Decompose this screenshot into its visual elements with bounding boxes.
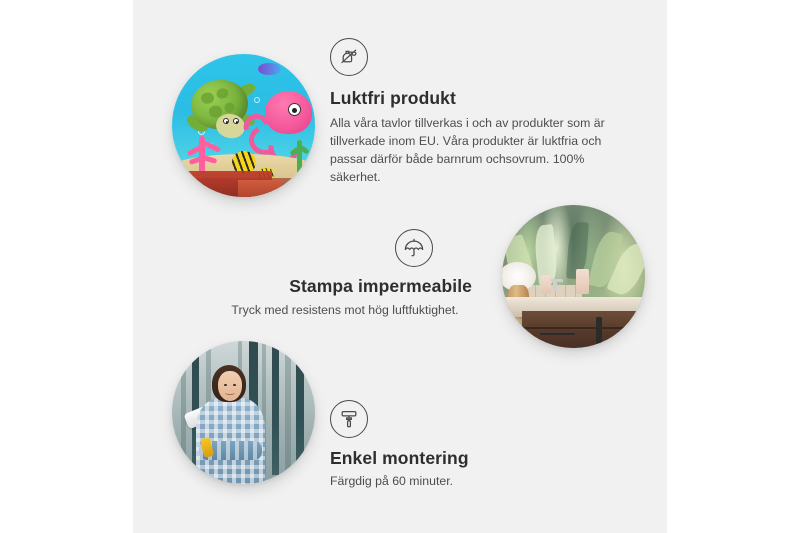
coral-pink bbox=[183, 131, 223, 174]
forest-tree bbox=[272, 341, 279, 475]
bathroom-faucet-spout bbox=[549, 279, 563, 282]
feature-title: Luktfri produkt bbox=[330, 88, 630, 109]
forest-tree bbox=[181, 341, 187, 475]
feature-odourless: Luktfri produkt Alla våra tavlor tillver… bbox=[330, 38, 630, 187]
feature-description: Alla våra tavlor tillverkas i och av pro… bbox=[330, 115, 622, 187]
octopus-eye bbox=[288, 103, 301, 116]
woman-forest-scene bbox=[172, 341, 315, 484]
umbrella-icon-wrap bbox=[215, 229, 475, 267]
ocean-scene bbox=[172, 54, 315, 197]
product-photo-woman-roller bbox=[172, 341, 315, 484]
product-photo-bathroom bbox=[502, 205, 645, 348]
ocean-foreground-object bbox=[238, 180, 281, 197]
woman-face bbox=[218, 371, 242, 401]
screenshot-root: Luktfri produkt Alla våra tavlor tillver… bbox=[0, 0, 800, 533]
feature-title: Stampa impermeabile bbox=[215, 276, 475, 297]
feature-waterproof: Stampa impermeabile Tryck med resistens … bbox=[215, 229, 475, 320]
bathroom-scene bbox=[502, 205, 645, 348]
fish-blue bbox=[258, 63, 281, 76]
bathroom-candle bbox=[576, 269, 589, 293]
forest-tree bbox=[285, 341, 291, 475]
vanity-handle bbox=[596, 317, 603, 344]
paint-roller-icon bbox=[330, 400, 368, 438]
coral-green bbox=[289, 140, 309, 174]
forest-tree bbox=[296, 341, 303, 475]
bathroom-vanity bbox=[522, 311, 645, 348]
bubble-icon bbox=[254, 97, 260, 103]
product-photo-ocean bbox=[172, 54, 315, 197]
no-perfume-icon bbox=[330, 38, 368, 76]
bathroom-candle bbox=[541, 275, 551, 294]
feature-description: Färgdig på 60 minuter. bbox=[330, 473, 590, 491]
feature-title: Enkel montering bbox=[330, 448, 590, 469]
feature-description: Tryck med resistens mot hög luftfuktighe… bbox=[215, 302, 475, 320]
umbrella-icon bbox=[395, 229, 433, 267]
vanity-handle bbox=[540, 333, 574, 335]
feature-easy-mounting: Enkel montering Färgdig på 60 minuter. bbox=[330, 400, 590, 491]
